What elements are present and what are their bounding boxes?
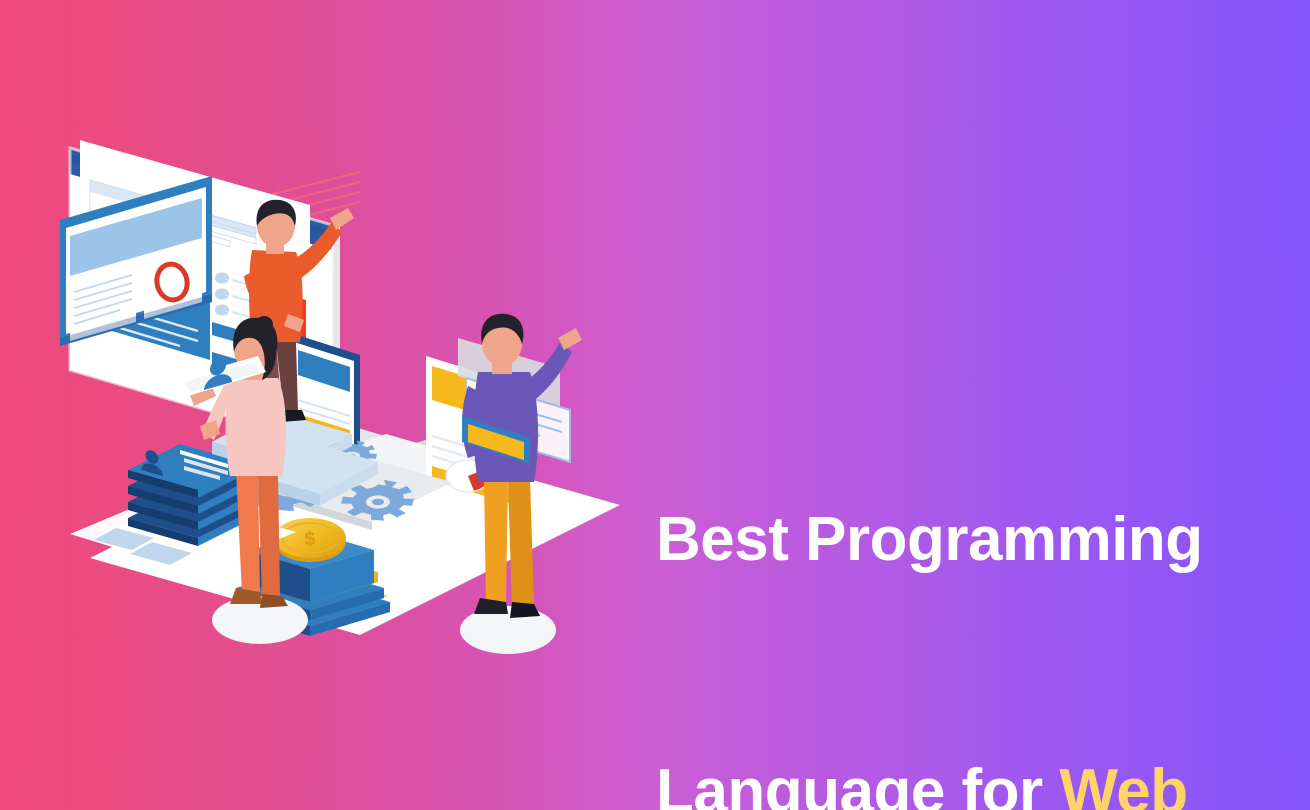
- headline-highlight-web: Web: [1059, 757, 1187, 810]
- gold-coin: $: [274, 518, 346, 562]
- banner-root: $: [0, 0, 1310, 810]
- headline-line-1: Best Programming: [656, 498, 1236, 582]
- isometric-illustration: $: [60, 110, 640, 680]
- headline-line-2-plain: Language for: [656, 757, 1059, 810]
- headline-line-2: Language for Web: [656, 750, 1236, 810]
- page-title: Best Programming Language for Web Develo…: [656, 330, 1236, 810]
